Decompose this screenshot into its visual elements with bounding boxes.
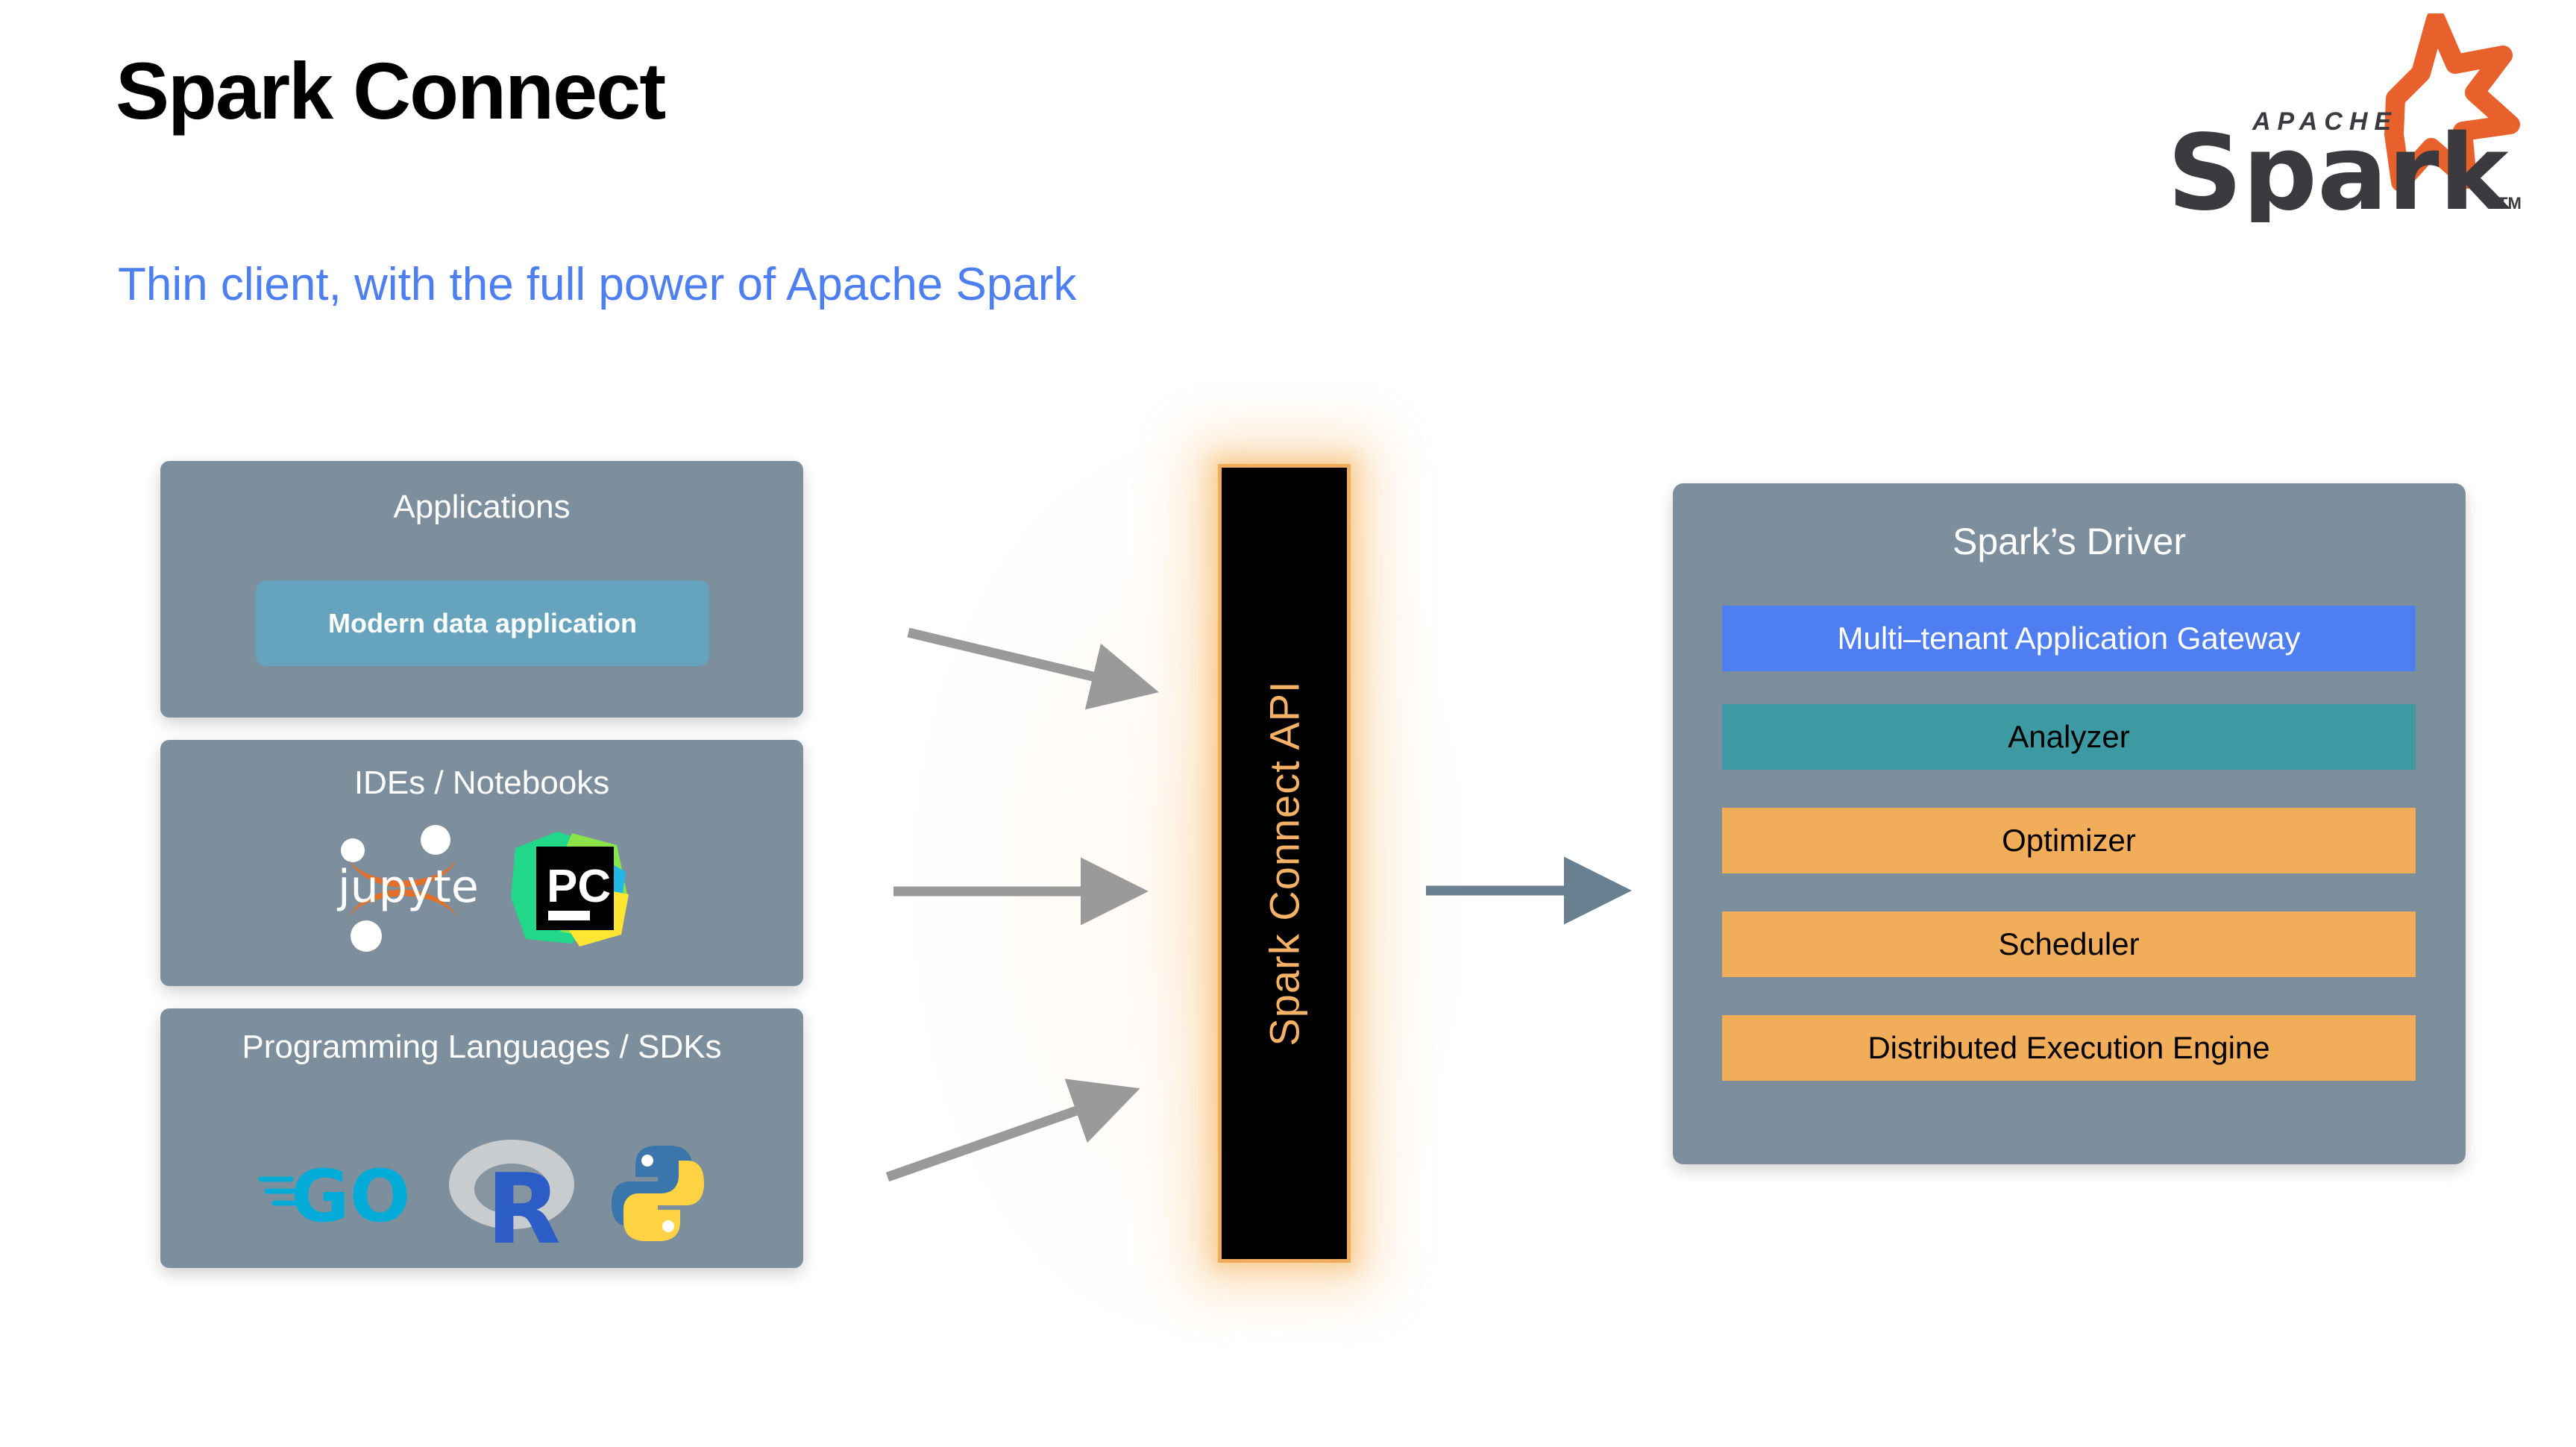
card-spark-driver-title: Spark’s Driver: [1673, 519, 2466, 564]
apache-spark-logo: APACHE Spark TM: [2158, 13, 2531, 222]
go-logo: GO: [257, 1152, 415, 1234]
page-subtitle: Thin client, with the full power of Apac…: [118, 260, 1076, 310]
driver-row-optimizer[interactable]: Optimizer: [1722, 808, 2416, 873]
driver-row-execution-engine[interactable]: Distributed Execution Engine: [1722, 1015, 2416, 1081]
card-ides-notebooks[interactable]: IDEs / Notebooks jupyter PC: [160, 740, 803, 986]
card-applications-title: Applications: [160, 488, 803, 527]
chip-modern-data-application[interactable]: Modern data application: [256, 580, 709, 666]
ide-logo-row: jupyter PC: [160, 823, 803, 953]
svg-text:jupyter: jupyter: [336, 861, 477, 913]
r-logo: R: [444, 1134, 579, 1253]
card-languages-title: Programming Languages / SDKs: [160, 1028, 803, 1067]
card-ides-title: IDEs / Notebooks: [160, 764, 803, 803]
svg-text:R: R: [486, 1152, 561, 1253]
card-applications[interactable]: Applications Modern data application: [160, 461, 803, 718]
card-programming-languages[interactable]: Programming Languages / SDKs GO R: [160, 1008, 803, 1268]
card-spark-driver[interactable]: Spark’s Driver Multi–tenant Application …: [1673, 483, 2466, 1164]
driver-row-scheduler[interactable]: Scheduler: [1722, 911, 2416, 977]
background-wash: [895, 418, 1462, 1357]
svg-text:PC: PC: [547, 861, 611, 912]
driver-row-gateway[interactable]: Multi–tenant Application Gateway: [1722, 606, 2416, 671]
jupyter-logo: jupyter: [330, 823, 477, 953]
svg-text:TM: TM: [2498, 194, 2522, 213]
pycharm-logo: PC: [508, 826, 633, 951]
page-title: Spark Connect: [116, 48, 665, 133]
spark-connect-api-label: Spark Connect API: [1260, 680, 1309, 1046]
driver-row-analyzer[interactable]: Analyzer: [1722, 704, 2416, 770]
svg-text:GO: GO: [291, 1155, 410, 1234]
language-logo-row: GO R: [160, 1134, 803, 1253]
svg-text:Spark: Spark: [2167, 113, 2511, 222]
spark-connect-api-bar[interactable]: Spark Connect API: [1218, 464, 1351, 1263]
python-logo: [609, 1143, 707, 1244]
